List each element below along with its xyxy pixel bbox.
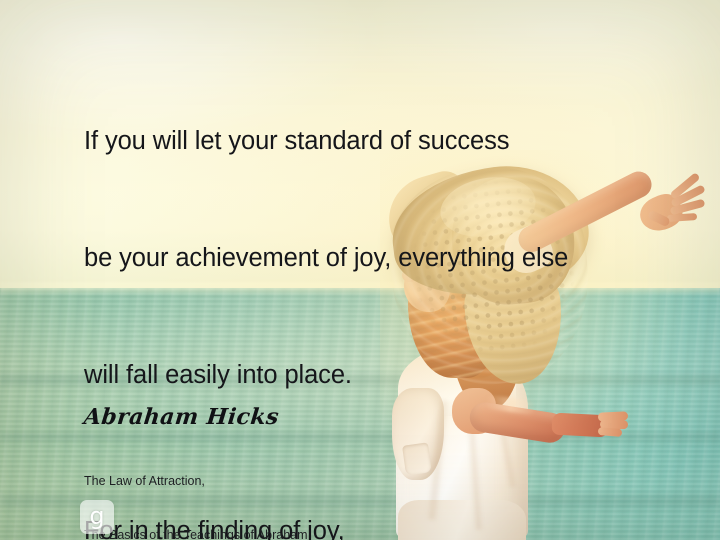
quote-image-canvas: If you will let your standard of success…: [0, 0, 720, 540]
source-line-1: The Law of Attraction,: [84, 472, 384, 490]
source-line-2: The Basics of the Teachings of Abraham: [84, 526, 384, 540]
logo-letter-g: g: [89, 504, 104, 528]
quote-line-2: be your achievement of joy, everything e…: [84, 239, 624, 278]
attribution-block: Abraham Hicks The Law of Attraction, The…: [84, 404, 384, 540]
raised-finger: [667, 213, 697, 222]
author-name: Abraham Hicks: [83, 404, 281, 430]
watermark-logo: g: [80, 500, 114, 534]
quote-line-1: If you will let your standard of success: [84, 122, 624, 161]
source-lines: The Law of Attraction, The Basics of the…: [84, 436, 384, 540]
quote-line-3: will fall easily into place.: [84, 356, 624, 395]
